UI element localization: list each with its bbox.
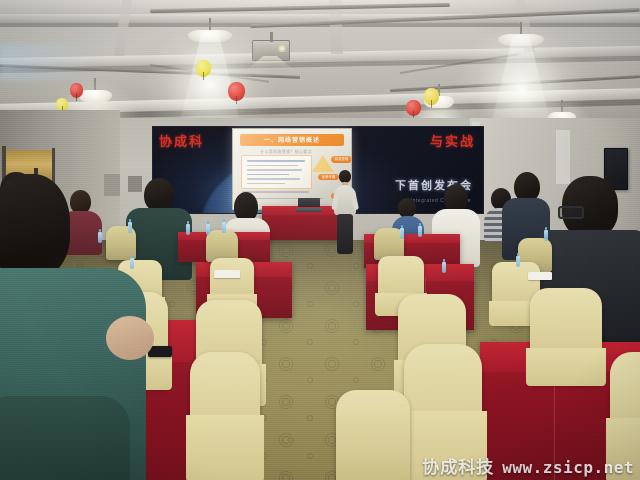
- chair-skirt: [526, 348, 607, 386]
- attendee-head: [0, 174, 70, 278]
- pendant-lamp-right: [498, 22, 544, 54]
- watermark-url: www.zsicp.net: [502, 458, 634, 477]
- chair-foreground-midright: [336, 390, 410, 480]
- balloon-red-2: [70, 83, 83, 98]
- water-bottle: [98, 232, 102, 243]
- chair-foreground-left: [190, 352, 260, 480]
- eyeglasses-icon: [558, 206, 584, 219]
- laptop-base: [296, 208, 322, 212]
- presenter-legs: [337, 214, 353, 254]
- balloon-red-3: [406, 100, 421, 116]
- water-bottle: [222, 222, 226, 233]
- water-bottle: [442, 262, 446, 273]
- balloon-yellow-1: [196, 60, 211, 77]
- backdrop-title-right: 与实战: [430, 131, 475, 150]
- wall-fixture-left: [104, 174, 120, 196]
- water-bottle: [400, 228, 404, 239]
- balloon-yellow-3: [424, 88, 439, 105]
- watermark-company: 协成科技: [422, 453, 494, 478]
- water-bottle: [206, 224, 210, 235]
- projector-lens: [278, 45, 286, 52]
- attendee-bottom-left: [0, 396, 120, 480]
- backdrop-title-left: 协成科: [159, 131, 204, 150]
- attendee-head: [444, 184, 468, 212]
- attendee-head: [144, 178, 174, 212]
- water-bottle: [186, 224, 190, 235]
- attendee-hand: [106, 316, 154, 360]
- notepad: [214, 270, 240, 278]
- water-bottle: [130, 258, 134, 269]
- watermark: 协成科技 www.zsicp.net: [422, 453, 634, 478]
- water-bottle: [128, 222, 132, 233]
- chair-skirt: [186, 415, 264, 480]
- lamp-shade: [188, 30, 232, 42]
- water-bottle: [516, 256, 520, 267]
- lamp-shade: [78, 90, 112, 102]
- laptop-lid: [298, 198, 320, 207]
- balloon-red-1: [228, 82, 245, 101]
- presenter: [332, 170, 358, 260]
- chair-front-4: [530, 288, 602, 384]
- projector-mount: [270, 32, 273, 42]
- presenter-laptop: [298, 198, 320, 212]
- notepad: [528, 272, 552, 280]
- lamp-shade: [498, 34, 544, 46]
- water-bottle: [544, 230, 548, 241]
- water-bottle: [418, 226, 422, 237]
- attendee-head: [398, 198, 416, 218]
- conference-photo: 协成科 与实战 下首创发布会 Integrated Conference 一、网…: [0, 0, 640, 480]
- lens-flare: [0, 44, 120, 80]
- pendant-lamp-left: [78, 78, 112, 104]
- attendee-torso: [0, 396, 130, 480]
- pendant-lamp-center-left: [188, 18, 232, 48]
